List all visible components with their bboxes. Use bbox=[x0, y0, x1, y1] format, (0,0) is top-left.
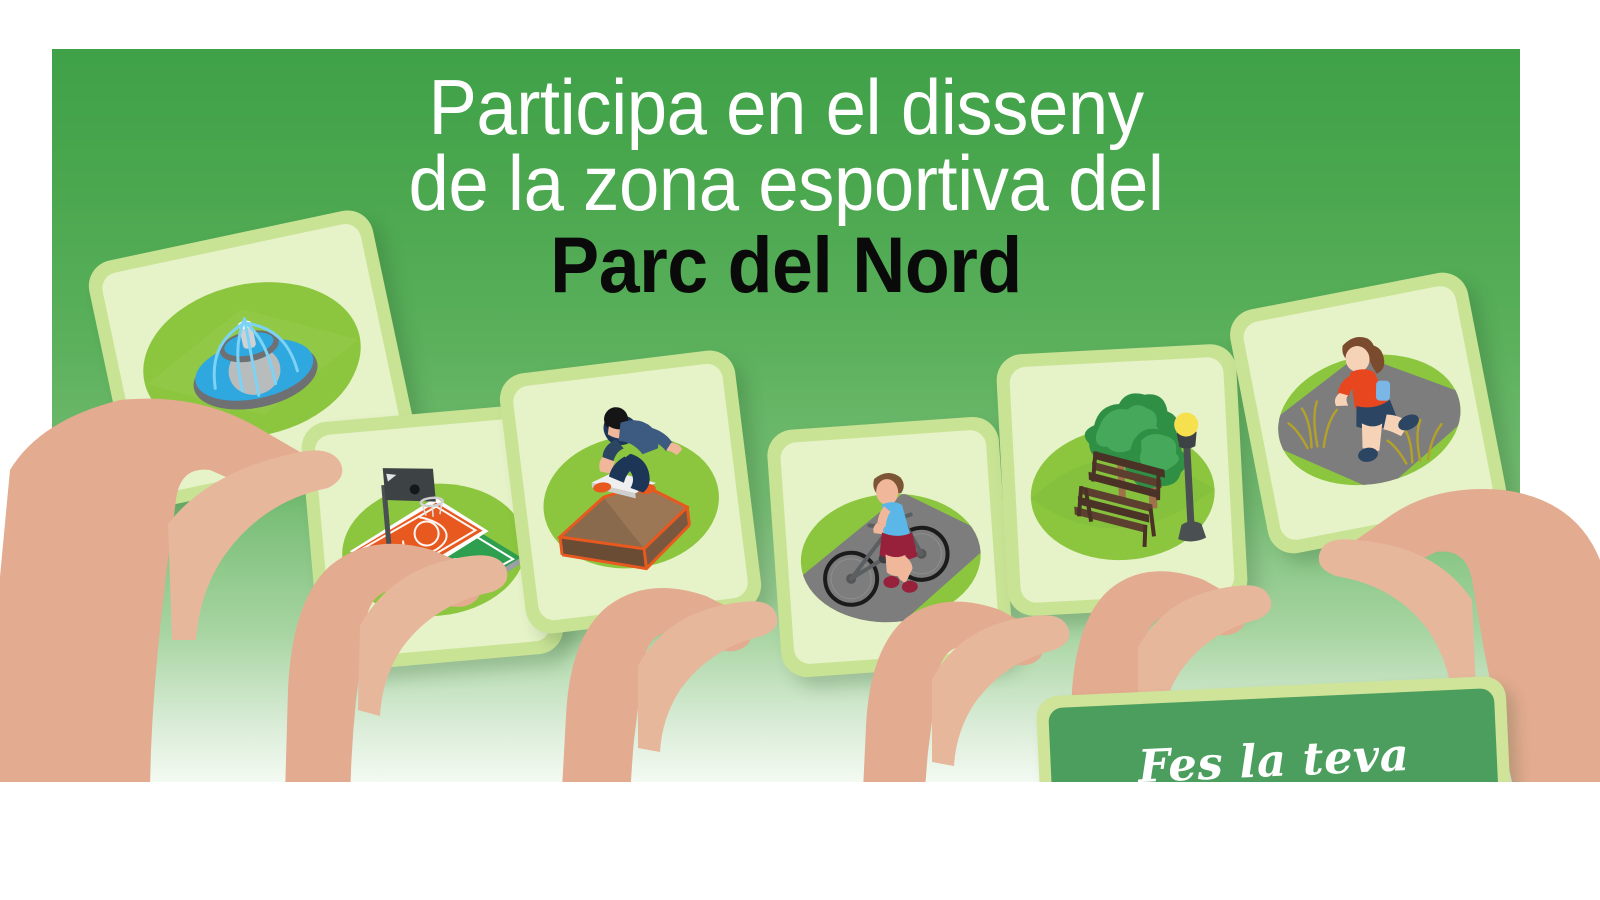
card-skatepark-face bbox=[511, 362, 749, 622]
skateboard-ramp-icon bbox=[511, 362, 749, 622]
hero-panel: Participa en el disseny de la zona espor… bbox=[52, 49, 1520, 782]
footer-bar: Ajuntament de Sabadell Hi col·labora: bbox=[0, 782, 1600, 900]
cyclist-icon bbox=[780, 429, 1001, 665]
card-running-face bbox=[1241, 283, 1495, 542]
card-bike-lane[interactable] bbox=[766, 415, 1015, 679]
card-bike-lane-face bbox=[780, 429, 1001, 665]
poster-canvas: Participa en el disseny de la zona espor… bbox=[0, 0, 1600, 900]
card-park-rest[interactable] bbox=[995, 343, 1248, 617]
headline-line-1: Participa en el disseny bbox=[103, 69, 1468, 145]
runner-icon bbox=[1241, 283, 1495, 542]
park-bench-icon bbox=[1009, 357, 1235, 604]
card-park-rest-face bbox=[1009, 357, 1235, 604]
headline-line-2: de la zona esportiva del bbox=[103, 145, 1468, 221]
card-running[interactable] bbox=[1226, 268, 1511, 558]
cta-text-full: Fes la teva aportació! bbox=[0, 0, 1, 1]
card-skatepark[interactable] bbox=[497, 348, 764, 637]
